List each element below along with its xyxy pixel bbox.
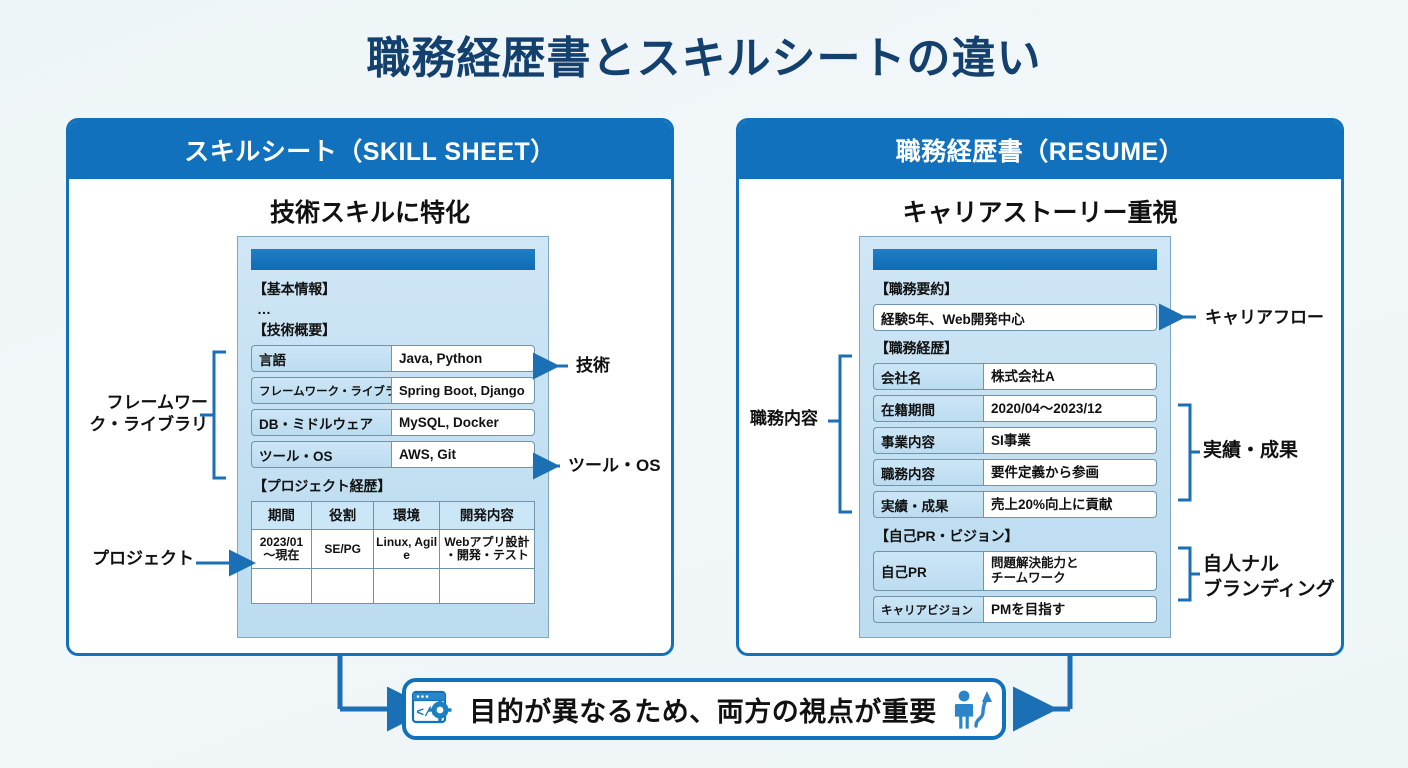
section-self-pr: 【自己PR・ビジョン】 [875,526,1157,546]
section-basic-info: 【基本情報】 [253,279,535,299]
skill-sheet-panel: スキルシート（SKILL SHEET） 技術スキルに特化 【基本情報】 … 【技… [66,118,674,656]
history-row-value: 株式会社A [983,363,1157,390]
project-cell: Linux, Agile [374,530,439,569]
resume-document-card: 【職務要約】 経験5年、Web開発中心 【職務経歴】 会社名 株式会社A 在籍期… [859,236,1171,638]
project-cell [374,569,439,604]
history-row-key: 会社名 [873,363,983,390]
project-cell [311,569,374,604]
pr-row-value: 問題解決能力と チームワーク [983,551,1157,591]
project-cell: SE/PG [311,530,374,569]
history-row: 職務内容 要件定義から参画 [873,459,1157,486]
tech-row-value: AWS, Git [391,441,535,468]
tech-row-value: Spring Boot, Django [391,377,535,404]
job-summary-value: 経験5年、Web開発中心 [873,304,1157,331]
connector-left-to-banner [340,656,392,709]
project-table-header-row: 期間 役割 環境 開発内容 [252,502,535,530]
document-titlebar [251,249,535,270]
annotation-job-content: 職務内容 [750,408,818,430]
history-row-value: 2020/04〜2023/12 [983,395,1157,422]
connector-right-to-banner [1018,656,1070,709]
section-tech-overview: 【技術概要】 [253,320,535,340]
code-window-gear-icon: </> [411,689,455,729]
history-row: 在籍期間 2020/04〜2023/12 [873,395,1157,422]
history-row-key: 実績・成果 [873,491,983,518]
tech-row: フレームワーク・ライブラリ Spring Boot, Django [251,377,535,404]
project-col-period: 期間 [252,502,312,530]
project-cell [252,569,312,604]
annotation-project: プロジェクト [92,548,194,570]
tech-row-key: 言語 [251,345,391,372]
resume-subtitle: キャリアストーリー重視 [739,193,1341,229]
page-title: 職務経歴書とスキルシートの違い [0,22,1408,86]
project-col-work: 開発内容 [439,502,534,530]
project-history-table: 期間 役割 環境 開発内容 2023/01 〜現在 SE/PG Linux, A… [251,501,535,604]
tech-row-value: Java, Python [391,345,535,372]
project-col-env: 環境 [374,502,439,530]
section-work-history: 【職務経歴】 [875,338,1157,358]
tech-row-value: MySQL, Docker [391,409,535,436]
table-row: 2023/01 〜現在 SE/PG Linux, Agile Webアプリ設計 … [252,530,535,569]
history-row-key: 職務内容 [873,459,983,486]
pr-row-key: 自己PR [873,551,983,591]
person-growth-arrow-icon [951,688,997,730]
history-row-value: 要件定義から参画 [983,459,1157,486]
pr-row: キャリアビジョン PMを目指す [873,596,1157,623]
tech-row: ツール・OS AWS, Git [251,441,535,468]
project-cell: 2023/01 〜現在 [252,530,312,569]
resume-header: 職務経歴書（RESUME） [739,121,1341,179]
history-row-key: 事業内容 [873,427,983,454]
tech-row-key: フレームワーク・ライブラリ [251,377,391,404]
annotation-technology: 技術 [576,355,610,377]
section-project-history: 【プロジェクト経歴】 [253,476,535,496]
annotation-achievements: 実績・成果 [1203,440,1298,462]
annotation-career-flow: キャリアフロー [1205,307,1324,329]
annotation-personal-branding: 自人ナル ブランディング [1203,552,1335,602]
history-row-key: 在籍期間 [873,395,983,422]
tech-row: DB・ミドルウェア MySQL, Docker [251,409,535,436]
table-row [252,569,535,604]
tech-row: 言語 Java, Python [251,345,535,372]
project-cell: Webアプリ設計 ・開発・テスト [439,530,534,569]
history-row: 会社名 株式会社A [873,363,1157,390]
section-job-summary: 【職務要約】 [875,279,1157,299]
annotation-framework-library: フレームワー ク・ライブラリ [88,392,208,436]
project-cell [439,569,534,604]
skill-sheet-header: スキルシート（SKILL SHEET） [69,121,671,179]
pr-row-value: PMを目指す [983,596,1157,623]
skill-sheet-subtitle: 技術スキルに特化 [69,193,671,229]
history-row: 事業内容 SI事業 [873,427,1157,454]
summary-banner: </> 目的が異なるため、両方の視点が重要 [402,678,1006,740]
pr-row: 自己PR 問題解決能力と チームワーク [873,551,1157,591]
history-row-value: SI事業 [983,427,1157,454]
tech-row-key: DB・ミドルウェア [251,409,391,436]
project-col-role: 役割 [311,502,374,530]
annotation-tool-os: ツール・OS [568,455,661,477]
document-titlebar [873,249,1157,270]
pr-row-key: キャリアビジョン [873,596,983,623]
history-row: 実績・成果 売上20%向上に貢献 [873,491,1157,518]
history-row-value: 売上20%向上に貢献 [983,491,1157,518]
tech-row-key: ツール・OS [251,441,391,468]
basic-info-dots: … [257,304,535,314]
summary-banner-text: 目的が異なるため、両方の視点が重要 [469,690,937,729]
infographic-canvas: 職務経歴書とスキルシートの違い スキルシート（SKILL SHEET） 技術スキ… [0,0,1408,768]
skill-sheet-document-card: 【基本情報】 … 【技術概要】 言語 Java, Python フレームワーク・… [237,236,549,638]
